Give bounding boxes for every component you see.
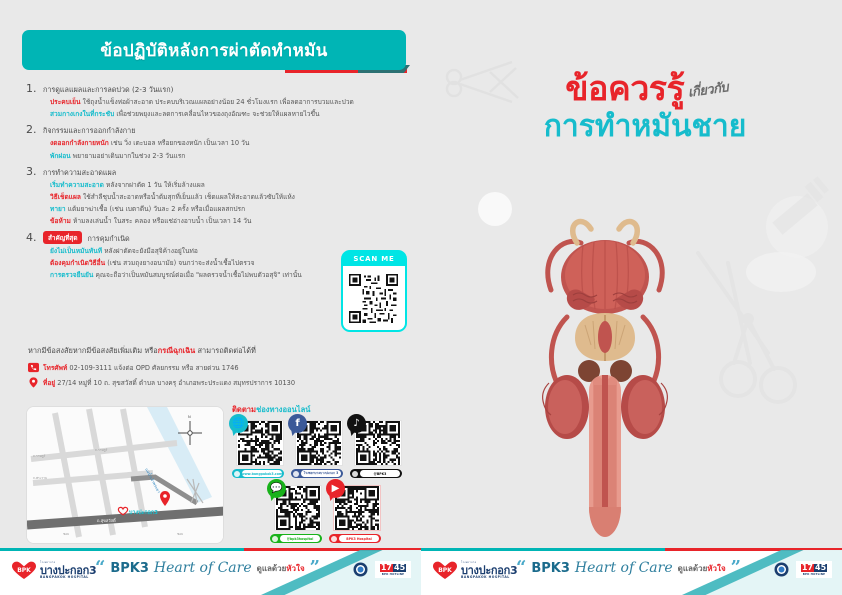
qr-channel-youtube[interactable]: ▶BPK3 Hospital: [329, 485, 381, 543]
slogan-script: Heart of Care: [154, 560, 252, 576]
slogan-thai-1b: ดูแลด้วย: [678, 564, 708, 573]
instruction-detail: ประคบเย็น ใช้ถุงน้ำแข็งห่อผ้าสะอาด ประคบ…: [50, 96, 426, 108]
map-graphic: แม่น้ำเจ้าพระยา ถ.สุขสวัสดิ์ ถ.ราษฎร์ถ.พ…: [27, 407, 224, 544]
accreditation-seal-icon: [353, 562, 368, 577]
online-title-part2: ช่องทางออนไลน์: [256, 405, 310, 414]
qr-code-image[interactable]: 🌐: [236, 420, 284, 466]
qr-channel-label-text: @BPK3: [360, 470, 400, 477]
qr-code-main[interactable]: [349, 271, 398, 326]
qr-row-bottom: 💬@bpk3hospital ▶BPK3 Hospital: [270, 485, 418, 543]
heart-logo-icon: BPK: [432, 561, 458, 580]
instruction-number: 2.: [26, 123, 38, 136]
instruction-keyword: ข้อห้าม: [50, 217, 71, 225]
quote-open-icon: “: [95, 562, 105, 575]
left-content-column: ข้อปฏิบัติหลังการผ่าตัดทำหมัน 1.การดูแลแ…: [0, 0, 440, 548]
svg-text:N: N: [188, 415, 191, 419]
instruction-keyword: ประคบเย็น: [50, 98, 81, 106]
page-footer: BPK โรงพยาบาล บางปะกอก3 BANGPAKOK HOSPIT…: [0, 548, 842, 595]
phone-icon: [28, 362, 39, 373]
svg-text:BPK: BPK: [438, 567, 452, 574]
qr-channel-label: BPK3 Hospital: [329, 534, 381, 543]
hotline-sub: BPK HOTLINE: [382, 572, 404, 576]
instruction-detail-text: ใช้สำลีชุบน้ำสะอาดหรือน้ำต้มสุกที่เย็นแล…: [81, 193, 295, 201]
svg-text:ถ.พระราม: ถ.พระราม: [33, 476, 47, 480]
svg-text:ถ.ราษฎร์: ถ.ราษฎร์: [95, 448, 108, 452]
hotline-sub-2: BPK HOTLINE: [803, 572, 825, 576]
heart-logo-icon: BPK: [11, 561, 37, 580]
contact-phone-text: โทรศัพท์ 02-109-3111 แจ้งต่อ OPD ศัลยกรร…: [43, 362, 239, 373]
website-icon[interactable]: 🌐: [229, 414, 248, 433]
qr-channel-label: @bpk3hospital: [270, 534, 322, 543]
svg-text:ซอย: ซอย: [63, 532, 69, 536]
slogan-script-2: Heart of Care: [575, 560, 673, 576]
online-channels-title: ติดตามช่องทางออนไลน์: [232, 404, 418, 416]
slogan-bpk3: BPK3: [110, 561, 149, 576]
instruction-detail: งดออกกำลังกายหนัก เช่น วิ่ง เตะบอล หรือย…: [50, 137, 426, 149]
instruction-item: 1.การดูแลแผลและการลดปวด (2-3 วันแรก)ประค…: [26, 82, 426, 120]
instruction-heading: การทำความสะอาดแผล: [43, 168, 116, 179]
male-reproductive-anatomy-icon: [505, 195, 705, 540]
instruction-detail-text: ห้ามลงเล่นน้ำ ในสระ คลอง หรือแช่อ่างอาบน…: [71, 217, 252, 225]
instruction-detail-text: แต้มยาฆ่าเชื้อ (เช่น เบตาดีน) วันละ 2 คร…: [66, 205, 245, 213]
contact-lead: หากมีข้อสงสัยหากมีข้อสงสัยเพิ่มเติม หรือ…: [28, 345, 418, 357]
instruction-keyword: งดออกกำลังกายหนัก: [50, 139, 109, 147]
svg-text:ซอย: ซอย: [177, 532, 183, 536]
bpk-brand-sub-2: BANGPAKOK HOSPITAL: [461, 576, 517, 579]
instruction-detail-text: เพื่อช่วยพยุงและลดการเคลื่อนไหวของถุงอัณ…: [114, 110, 319, 118]
hotline-part-b: 45: [393, 564, 406, 572]
qr-channel-facebook[interactable]: fโรงพยาบาลบางปะกอก 3: [291, 420, 343, 478]
qr-channel-label: โรงพยาบาลบางปะกอก 3: [291, 469, 343, 478]
hotline-number-2: 1745: [801, 564, 827, 572]
footer-right-icons-2: 1745 BPK HOTLINE: [774, 561, 832, 578]
instruction-item: 2.กิจกรรมและการออกกำลังกายงดออกกำลังกายห…: [26, 123, 426, 161]
footer-left: BPK โรงพยาบาล บางปะกอก3 BANGPAKOK HOSPIT…: [0, 548, 421, 595]
qr-tag-dot-icon: [331, 536, 337, 542]
slogan-thai: ดูแลด้วยหัวใจ: [257, 562, 305, 575]
youtube-icon[interactable]: ▶: [326, 479, 345, 498]
instruction-detail-text: หลังจากผ่าตัด 1 วัน ให้เริ่มล้างแผล: [104, 181, 205, 189]
contact-phone-row[interactable]: โทรศัพท์ 02-109-3111 แจ้งต่อ OPD ศัลยกรร…: [28, 362, 418, 373]
qr-tag-dot-icon: [293, 471, 299, 477]
qr-channel-label-text: โรงพยาบาลบางปะกอก 3: [301, 470, 341, 477]
qr-channel-label-text: BPK3 Hospital: [339, 535, 379, 542]
line-icon[interactable]: 💬: [267, 479, 286, 498]
instruction-item-header: 4.สำคัญที่สุด การคุมกำเนิด: [26, 231, 426, 246]
instruction-detail: สวมกางเกงในที่กระชับ เพื่อช่วยพยุงและลดก…: [50, 108, 426, 120]
footer-right: BPK โรงพยาบาล บางปะกอก3 BANGPAKOK HOSPIT…: [421, 548, 842, 595]
instruction-detail-text: (เช่น สวมถุงยางอนามัย) จนกว่าจะส่งน้ำเชื…: [105, 259, 254, 267]
quote-close-icon: ”: [310, 562, 320, 575]
bpk-logo-2: BPK โรงพยาบาล บางปะกอก3 BANGPAKOK HOSPIT…: [432, 561, 517, 580]
main-title-text: ข้อควรรู้: [565, 69, 684, 109]
qr-channel-label: www.bangpakok3.com: [232, 469, 284, 478]
brochure-page: ข้อปฏิบัติหลังการผ่าตัดทำหมัน 1.การดูแลแ…: [0, 0, 842, 595]
instruction-detail-text: พยายามอย่าเดินมากในช่วง 2-3 วันแรก: [71, 152, 186, 160]
contact-emergency-word: กรณีฉุกเฉิน: [158, 346, 195, 355]
qr-channel-label: @BPK3: [350, 469, 402, 478]
slogan-bpk3-2: BPK3: [531, 561, 570, 576]
instruction-keyword: สวมกางเกงในที่กระชับ: [50, 110, 114, 118]
qr-tag-dot-icon: [234, 471, 240, 477]
qr-code-image[interactable]: ▶: [333, 485, 381, 531]
scan-me-label: SCAN ME: [343, 251, 405, 266]
qr-channel-line[interactable]: 💬@bpk3hospital: [270, 485, 322, 543]
map-pin-icon: [28, 377, 39, 388]
contact-block: หากมีข้อสงสัยหากมีข้อสงสัยเพิ่มเติม หรือ…: [28, 345, 418, 388]
instruction-heading: การคุมกำเนิด: [87, 234, 129, 245]
hotline-part-b-2: 45: [814, 564, 827, 572]
hotline-number: 1745: [380, 564, 406, 572]
hotline-part-a: 17: [380, 564, 393, 572]
qr-tag-dot-icon: [352, 471, 358, 477]
instruction-detail: ทายา แต้มยาฆ่าเชื้อ (เช่น เบตาดีน) วันละ…: [50, 203, 426, 215]
instruction-detail: วิธีเช็ดแผล ใช้สำลีชุบน้ำสะอาดหรือน้ำต้ม…: [50, 191, 426, 203]
footer-slogan-2: “ BPK3 Heart of Care ดูแลด้วยหัวใจ ”: [516, 560, 741, 576]
anatomy-illustration: [505, 195, 705, 540]
svg-text:ถ.สุขสวัสดิ์: ถ.สุขสวัสดิ์: [97, 517, 117, 524]
slogan-thai-1: ดูแลด้วย: [257, 564, 287, 573]
contact-lead-part1: หากมีข้อสงสัยหากมีข้อสงสัยเพิ่มเติม หรือ: [28, 346, 158, 355]
main-title-block: ข้อควรรู้เกี่ยวกับ การทำหมันชาย: [455, 72, 835, 143]
contact-address-text: ที่อยู่ 27/14 หมู่ที่ 10 ถ. สุขสวัสดิ์ ต…: [43, 377, 295, 388]
instruction-detail-text: ใช้ถุงน้ำแข็งห่อผ้าสะอาด ประคบบริเวณแผลอ…: [81, 98, 354, 106]
hotline-part-a-2: 17: [801, 564, 814, 572]
quote-close-icon: ”: [731, 562, 741, 575]
instruction-keyword: ทายา: [50, 205, 66, 213]
instruction-detail-text: เช่น วิ่ง เตะบอล หรือยกของหนัก เป็นเวลา …: [109, 139, 250, 147]
instruction-item-header: 3.การทำความสะอาดแผล: [26, 165, 426, 179]
slogan-thai-2b: หัวใจ: [707, 564, 725, 573]
address-value: 27/14 หมู่ที่ 10 ถ. สุขสวัสดิ์ ตำบล บางค…: [57, 379, 295, 387]
svg-text:ถ.ราษฎร์: ถ.ราษฎร์: [33, 454, 46, 458]
qr-channel-website[interactable]: 🌐www.bangpakok3.com: [232, 420, 284, 478]
qr-tag-dot-icon: [272, 536, 278, 542]
location-map[interactable]: แม่น้ำเจ้าพระยา ถ.สุขสวัสดิ์ ถ.ราษฎร์ถ.พ…: [26, 406, 224, 544]
instruction-detail-text: หลังผ่าตัดจะยังมีอสุจิค้างอยู่ในท่อ: [102, 247, 198, 255]
important-badge: สำคัญที่สุด: [43, 231, 82, 244]
svg-text:BPK: BPK: [17, 567, 31, 574]
main-title-line2: การทำหมันชาย: [455, 110, 835, 143]
hotline-badge: 1745 BPK HOTLINE: [375, 561, 411, 578]
instruction-item-header: 2.กิจกรรมและการออกกำลังกาย: [26, 123, 426, 137]
instruction-keyword: ต้องคุมกำเนิดวิธีอื่น: [50, 259, 105, 267]
online-channels-block: ติดตามช่องทางออนไลน์ 🌐www.bangpakok3.com…: [232, 404, 418, 543]
instruction-heading: กิจกรรมและการออกกำลังกาย: [43, 126, 135, 137]
hotline-badge-2: 1745 BPK HOTLINE: [796, 561, 832, 578]
instruction-number: 3.: [26, 165, 38, 178]
scan-me-qr-card[interactable]: SCAN ME: [341, 250, 407, 332]
instruction-item-header: 1.การดูแลแผลและการลดปวด (2-3 วันแรก): [26, 82, 426, 96]
contact-address-row: ที่อยู่ 27/14 หมู่ที่ 10 ถ. สุขสวัสดิ์ ต…: [28, 377, 418, 388]
phone-value: 02-109-3111 แจ้งต่อ OPD ศัลยกรรม หรือ สา…: [69, 364, 238, 372]
main-title-script: เกี่ยวกับ: [688, 81, 730, 100]
quote-open-icon: “: [516, 562, 526, 575]
bpk-brand-sub: BANGPAKOK HOSPITAL: [40, 576, 96, 579]
bpk-wordmark: โรงพยาบาล บางปะกอก3 BANGPAKOK HOSPITAL: [40, 562, 96, 579]
instruction-detail: ข้อห้าม ห้ามลงเล่นน้ำ ในสระ คลอง หรือแช่…: [50, 215, 426, 227]
bpk-wordmark-2: โรงพยาบาล บางปะกอก3 BANGPAKOK HOSPITAL: [461, 562, 517, 579]
instruction-number: 4.: [26, 231, 38, 244]
footer-right-icons: 1745 BPK HOTLINE: [353, 561, 411, 578]
instruction-number: 1.: [26, 82, 38, 95]
contact-lead-part2: สามารถติดต่อได้ที่: [195, 346, 256, 355]
slogan-thai-2: หัวใจ: [286, 564, 304, 573]
instruction-keyword: การตรวจยืนยัน: [50, 271, 93, 279]
qr-code-image[interactable]: f: [295, 420, 343, 466]
instruction-keyword: วิธีเช็ดแผล: [50, 193, 81, 201]
bpk-logo: BPK โรงพยาบาล บางปะกอก3 BANGPAKOK HOSPIT…: [11, 561, 96, 580]
accreditation-seal-icon: [774, 562, 789, 577]
page-title: ข้อปฏิบัติหลังการผ่าตัดทำหมัน: [100, 37, 327, 64]
instruction-item: 3.การทำความสะอาดแผลเริ่มทำความสะอาด หลัง…: [26, 165, 426, 228]
footer-slogan: “ BPK3 Heart of Care ดูแลด้วยหัวใจ ”: [95, 560, 320, 576]
main-title-line1: ข้อควรรู้เกี่ยวกับ: [455, 72, 835, 108]
qr-code-image[interactable]: ♪: [354, 420, 402, 466]
instruction-keyword: พักผ่อน: [50, 152, 71, 160]
decorative-circle: [746, 252, 816, 292]
qr-channel-label-text: www.bangpakok3.com: [242, 470, 282, 477]
section-header-bar: ข้อปฏิบัติหลังการผ่าตัดทำหมัน: [22, 30, 406, 70]
instruction-heading: การดูแลแผลและการลดปวด (2-3 วันแรก): [43, 85, 173, 96]
qr-code-image[interactable]: 💬: [274, 485, 322, 531]
svg-text:บางปะกอก3: บางปะกอก3: [129, 508, 158, 516]
instruction-keyword: เริ่มทำความสะอาด: [50, 181, 104, 189]
qr-channel-tiktok[interactable]: ♪@BPK3: [350, 420, 402, 478]
online-title-part1: ติดตาม: [232, 405, 256, 414]
slogan-thai-2-wrap: ดูแลด้วยหัวใจ: [678, 562, 726, 575]
qr-channel-label-text: @bpk3hospital: [280, 535, 320, 542]
tiktok-icon[interactable]: ♪: [347, 414, 366, 433]
qr-row-top: 🌐www.bangpakok3.com fโรงพยาบาลบางปะกอก 3…: [232, 420, 418, 478]
decorative-circle: [766, 196, 828, 258]
address-label: ที่อยู่: [43, 379, 55, 387]
instruction-detail-text: คุณจะถือว่าเป็นหมันสมบูรณ์ต่อเมื่อ "ผลตร…: [93, 271, 301, 279]
instruction-detail: พักผ่อน พยายามอย่าเดินมากในช่วง 2-3 วันแ…: [50, 150, 426, 162]
instruction-keyword: ยังไม่เป็นหมันทันที: [50, 247, 102, 255]
phone-label: โทรศัพท์: [43, 364, 67, 372]
instruction-detail: เริ่มทำความสะอาด หลังจากผ่าตัด 1 วัน ให้…: [50, 179, 426, 191]
facebook-icon[interactable]: f: [288, 414, 307, 433]
